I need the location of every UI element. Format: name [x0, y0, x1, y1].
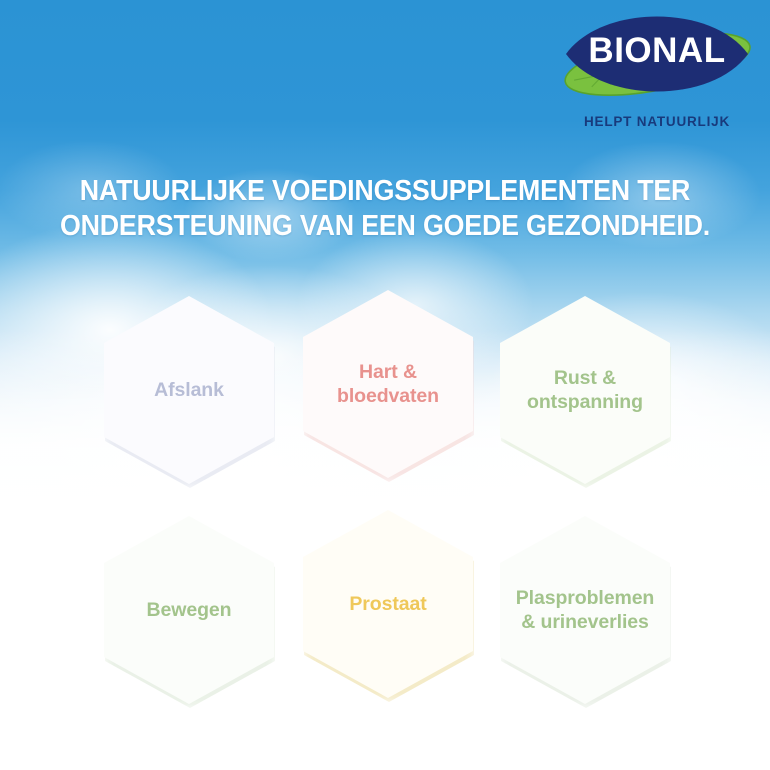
headline-text: NATUURLIJKE VOEDINGSSUPPLEMENTEN TER OND…: [23, 174, 747, 244]
category-hexagon-hart-bloedvaten[interactable]: Hart & bloedvaten: [303, 290, 473, 478]
category-hexagon-rust-ontspanning[interactable]: Rust & ontspanning: [500, 296, 670, 484]
category-hexagon-grid: Afslank Hart & bloedvaten Rust & ontspan…: [0, 290, 770, 700]
bional-logo[interactable]: BIONAL HELPT NATUURLIJK: [562, 6, 752, 138]
category-label: Prostaat: [341, 592, 434, 616]
category-label: Hart & bloedvaten: [329, 360, 447, 408]
category-hexagon-afslank[interactable]: Afslank: [104, 296, 274, 484]
logo-wordmark: BIONAL: [562, 28, 752, 74]
category-label: Plasproblemen & urineverlies: [508, 586, 663, 634]
logo-tagline: HELPT NATUURLIJK: [562, 114, 752, 129]
promo-banner: BIONAL HELPT NATUURLIJK NATUURLIJKE VOED…: [0, 0, 770, 770]
category-hexagon-plasproblemen[interactable]: Plasproblemen & urineverlies: [500, 516, 670, 704]
category-label: Rust & ontspanning: [519, 366, 651, 414]
category-hexagon-bewegen[interactable]: Bewegen: [104, 516, 274, 704]
category-hexagon-prostaat[interactable]: Prostaat: [303, 510, 473, 698]
category-label: Afslank: [146, 378, 232, 402]
category-label: Bewegen: [139, 598, 240, 622]
